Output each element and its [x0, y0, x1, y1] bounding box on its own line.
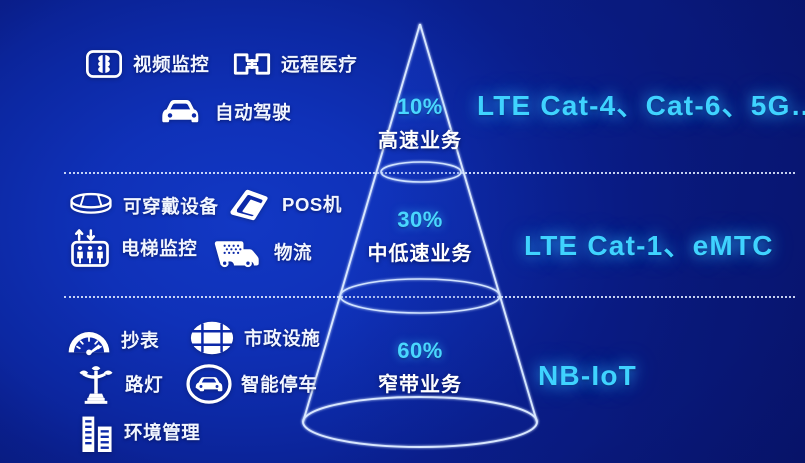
- municipal-grid-icon: [189, 318, 235, 358]
- app-item-environment-management[interactable]: 环境管理: [79, 412, 200, 452]
- app-label-environment-management: 环境管理: [124, 419, 200, 445]
- app-item-street-lamp[interactable]: 路灯: [76, 364, 163, 404]
- tier-divider-upper: [64, 172, 795, 174]
- car-icon: [158, 92, 206, 132]
- app-label-telemedicine: 远程医疗: [281, 51, 357, 77]
- app-item-telemedicine[interactable]: 远程医疗: [232, 44, 357, 84]
- app-label-meter-reading: 抄表: [121, 327, 159, 353]
- app-item-logistics[interactable]: 物流: [213, 232, 312, 272]
- app-label-municipal-facilities: 市政设施: [244, 325, 320, 351]
- tier-divider-lower: [64, 296, 795, 298]
- parking-car-icon: [186, 364, 232, 404]
- meter-gauge-icon: [66, 320, 112, 360]
- street-lamp-icon: [76, 364, 116, 404]
- wearable-band-icon: [68, 186, 114, 226]
- app-item-pos-terminal[interactable]: POS机: [225, 184, 342, 224]
- iot-tier-diagram: 10% 高速业务 30% 中低速业务 60% 窄带业务 LTE Cat-4、Ca…: [0, 0, 805, 463]
- app-item-smart-parking[interactable]: 智能停车: [186, 364, 317, 404]
- delivery-truck-icon: [213, 232, 265, 272]
- environment-building-icon: [79, 412, 115, 452]
- app-label-pos-terminal: POS机: [282, 191, 342, 217]
- tech-label-high-speed: LTE Cat-4、Cat-6、5G…: [477, 84, 805, 124]
- app-label-video-surveillance: 视频监控: [133, 51, 209, 77]
- elevator-icon: [68, 228, 112, 268]
- app-item-elevator-monitoring[interactable]: 电梯监控: [68, 228, 197, 268]
- app-label-street-lamp: 路灯: [125, 371, 163, 397]
- app-label-wearable-device: 可穿戴设备: [123, 193, 219, 219]
- pos-terminal-icon: [225, 184, 273, 224]
- app-label-logistics: 物流: [274, 239, 312, 265]
- app-label-elevator-monitoring: 电梯监控: [121, 235, 197, 261]
- tech-label-mid-low-speed: LTE Cat-1、eMTC: [524, 224, 774, 264]
- app-item-video-surveillance[interactable]: 视频监控: [84, 44, 209, 84]
- app-item-meter-reading[interactable]: 抄表: [66, 320, 159, 360]
- app-item-wearable-device[interactable]: 可穿戴设备: [68, 186, 219, 226]
- tech-label-narrowband: NB-IoT: [538, 360, 637, 392]
- traffic-light-icon: [84, 44, 124, 84]
- app-item-municipal-facilities[interactable]: 市政设施: [189, 318, 320, 358]
- app-label-autonomous-driving: 自动驾驶: [215, 99, 291, 125]
- telemedicine-icon: [232, 44, 272, 84]
- app-item-autonomous-driving[interactable]: 自动驾驶: [158, 92, 291, 132]
- app-label-smart-parking: 智能停车: [241, 371, 317, 397]
